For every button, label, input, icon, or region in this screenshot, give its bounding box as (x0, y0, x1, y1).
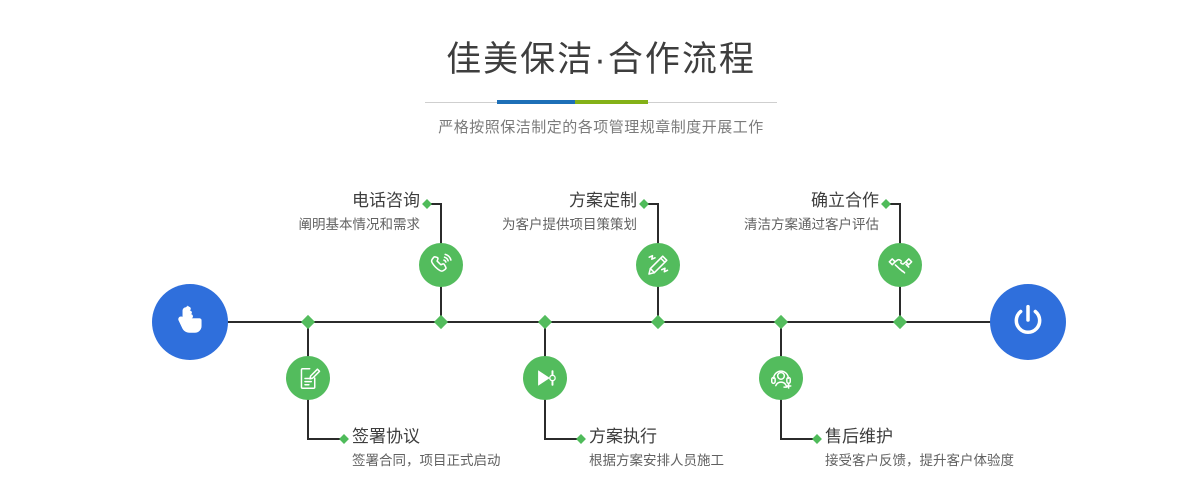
step-title-2: 签署协议 (352, 426, 501, 448)
step-icon-5 (878, 243, 922, 287)
step-desc-4: 根据方案安排人员施工 (589, 451, 724, 471)
step-desc-5: 清洁方案通过客户评估 (465, 215, 879, 235)
step-icon-6 (759, 356, 803, 400)
step-title-5: 确立合作 (465, 190, 879, 212)
step-label-2: 签署协议 签署合同，项目正式启动 (352, 426, 501, 471)
process-timeline: 电话咨询 阐明基本情况和需求 签署协议 签署合同，项目正式启动 (0, 0, 1202, 502)
step-title-6: 售后维护 (825, 426, 1014, 448)
pencil-design-icon (645, 252, 671, 278)
flow-end-node (990, 284, 1066, 360)
step-icon-2 (286, 356, 330, 400)
step-label-4: 方案执行 根据方案安排人员施工 (589, 426, 724, 471)
step-title-4: 方案执行 (589, 426, 724, 448)
step-label-6: 售后维护 接受客户反馈，提升客户体验度 (825, 426, 1014, 471)
step-icon-1 (419, 243, 463, 287)
document-edit-icon (296, 366, 321, 391)
step-label-5: 确立合作 清洁方案通过客户评估 (465, 190, 879, 235)
pointing-hand-icon (169, 299, 211, 346)
headset-support-icon (768, 365, 794, 391)
step-desc-6: 接受客户反馈，提升客户体验度 (825, 451, 1014, 471)
power-icon (1008, 300, 1048, 345)
phone-ringing-icon (428, 252, 454, 278)
step-desc-2: 签署合同，项目正式启动 (352, 451, 501, 471)
step-icon-3 (636, 243, 680, 287)
flow-infographic: 佳美保洁·合作流程 严格按照保洁制定的各项管理规章制度开展工作 (0, 0, 1202, 502)
flow-start-node (152, 284, 228, 360)
play-execute-icon (532, 365, 558, 391)
step-icon-4 (523, 356, 567, 400)
handshake-icon (887, 252, 914, 279)
